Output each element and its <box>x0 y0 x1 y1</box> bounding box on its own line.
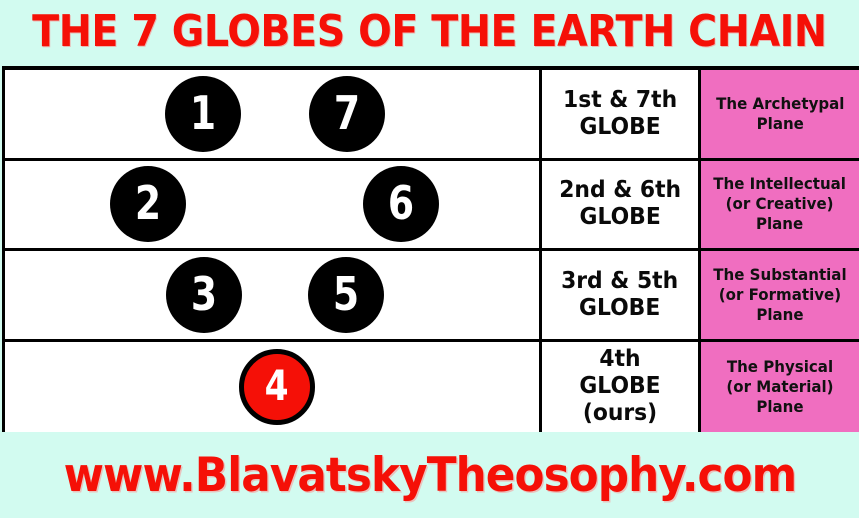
globes-cell: 3 5 <box>5 251 542 339</box>
plane-label-text: The Archetypal Plane <box>716 94 844 134</box>
globe-number: 5 <box>333 271 359 317</box>
globe-marker-7: 7 <box>309 76 385 152</box>
globe-label-cell: 2nd & 6th GLOBE <box>542 161 701 249</box>
plane-cell: The Archetypal Plane <box>701 70 859 158</box>
globes-cell: 4 <box>5 342 542 433</box>
globe-number: 3 <box>191 271 217 317</box>
globe-marker-3: 3 <box>166 257 242 333</box>
earth-chain-infographic: THE 7 GLOBES OF THE EARTH CHAIN 1 7 1st … <box>0 0 859 518</box>
globe-number: 7 <box>334 90 360 136</box>
globes-table: 1 7 1st & 7th GLOBE The Archetypal Plane… <box>2 66 859 432</box>
globe-label-cell: 3rd & 5th GLOBE <box>542 251 701 339</box>
table-row: 4 4th GLOBE (ours) The Physical (or Mate… <box>5 342 859 433</box>
plane-label-text: The Physical (or Material) Plane <box>726 357 833 417</box>
globe-marker-6: 6 <box>363 166 439 242</box>
globe-number: 6 <box>388 180 414 226</box>
plane-cell: The Physical (or Material) Plane <box>701 342 859 433</box>
globe-marker-4-ours: 4 <box>239 349 315 425</box>
page-title-text: THE 7 GLOBES OF THE EARTH CHAIN <box>32 9 826 55</box>
page-title: THE 7 GLOBES OF THE EARTH CHAIN <box>0 0 859 64</box>
globe-marker-1: 1 <box>165 76 241 152</box>
plane-cell: The Substantial (or Formative) Plane <box>701 251 859 339</box>
table-row: 2 6 2nd & 6th GLOBE The Intellectual (or… <box>5 161 859 252</box>
plane-cell: The Intellectual (or Creative) Plane <box>701 161 859 249</box>
globe-label-cell: 1st & 7th GLOBE <box>542 70 701 158</box>
globe-label-text: 3rd & 5th GLOBE <box>561 268 678 322</box>
globe-marker-2: 2 <box>110 166 186 242</box>
globe-label-text: 2nd & 6th GLOBE <box>559 177 681 231</box>
table-row: 1 7 1st & 7th GLOBE The Archetypal Plane <box>5 70 859 161</box>
globe-marker-5: 5 <box>308 257 384 333</box>
plane-label-text: The Intellectual (or Creative) Plane <box>714 174 847 234</box>
plane-label-text: The Substantial (or Formative) Plane <box>713 265 846 325</box>
globe-number: 4 <box>265 365 289 407</box>
globe-number: 1 <box>190 90 216 136</box>
globes-cell: 2 6 <box>5 161 542 249</box>
globe-label-cell: 4th GLOBE (ours) <box>542 342 701 433</box>
footer-url-text: www.BlavatskyTheosophy.com <box>63 451 796 501</box>
globes-cell: 1 7 <box>5 70 542 158</box>
globe-label-text: 4th GLOBE (ours) <box>546 346 694 427</box>
table-row: 3 5 3rd & 5th GLOBE The Substantial (or … <box>5 251 859 342</box>
globe-number: 2 <box>135 180 161 226</box>
globe-label-text: 1st & 7th GLOBE <box>563 87 677 141</box>
footer-url: www.BlavatskyTheosophy.com <box>0 434 859 518</box>
